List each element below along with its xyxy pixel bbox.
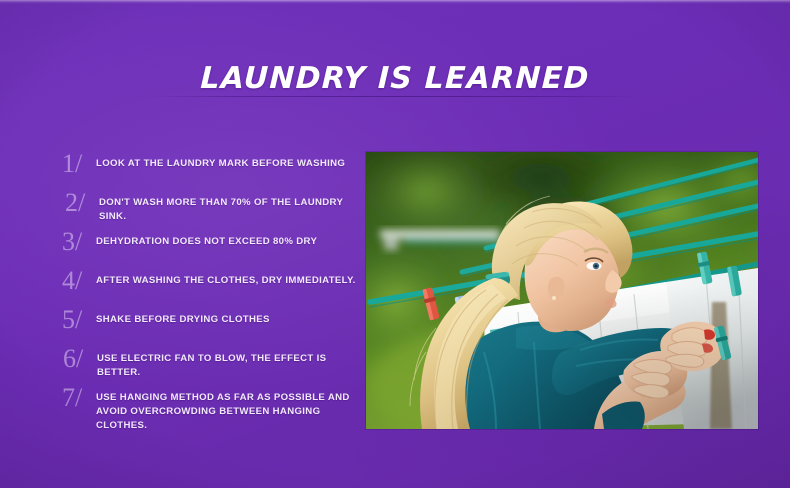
list-item-number: 7/ — [62, 384, 96, 411]
tips-list: 1/ LOOK AT THE LAUNDRY MARK BEFORE WASHI… — [62, 150, 362, 433]
slide-root: LAUNDRY IS LEARNED 1/ LOOK AT THE LAUNDR… — [0, 0, 790, 488]
list-item-text: USE HANGING METHOD AS FAR AS POSSIBLE AN… — [96, 384, 362, 433]
list-item-text: LOOK AT THE LAUNDRY MARK BEFORE WASHING — [96, 150, 362, 171]
list-item-number: 5/ — [62, 306, 96, 333]
list-item: 5/ SHAKE BEFORE DRYING CLOTHES — [62, 306, 362, 344]
list-item: 6/ USE ELECTRIC FAN TO BLOW, THE EFFECT … — [63, 345, 362, 383]
list-item-text: DEHYDRATION DOES NOT EXCEED 80% DRY — [96, 228, 362, 249]
list-item-number: 4/ — [62, 267, 96, 294]
list-item-number: 1/ — [62, 150, 96, 177]
laundry-photo — [366, 152, 758, 429]
list-item-text: SHAKE BEFORE DRYING CLOTHES — [96, 306, 362, 327]
page-title: LAUNDRY IS LEARNED — [0, 64, 790, 94]
list-item-text: USE ELECTRIC FAN TO BLOW, THE EFFECT IS … — [97, 345, 362, 380]
list-item: 7/ USE HANGING METHOD AS FAR AS POSSIBLE… — [62, 384, 362, 433]
list-item-number: 6/ — [63, 345, 97, 372]
title-divider — [150, 96, 640, 97]
list-item: 4/ AFTER WASHING THE CLOTHES, DRY IMMEDI… — [62, 267, 362, 305]
list-item-number: 3/ — [62, 228, 96, 255]
list-item-number: 2/ — [65, 189, 99, 216]
top-highlight-strip — [0, 0, 790, 4]
list-item-text: DON'T WASH MORE THAN 70% OF THE LAUNDRY … — [99, 189, 362, 224]
list-item: 1/ LOOK AT THE LAUNDRY MARK BEFORE WASHI… — [62, 150, 362, 188]
list-item-text: AFTER WASHING THE CLOTHES, DRY IMMEDIATE… — [96, 267, 362, 288]
list-item: 2/ DON'T WASH MORE THAN 70% OF THE LAUND… — [65, 189, 362, 227]
list-item: 3/ DEHYDRATION DOES NOT EXCEED 80% DRY — [62, 228, 362, 266]
